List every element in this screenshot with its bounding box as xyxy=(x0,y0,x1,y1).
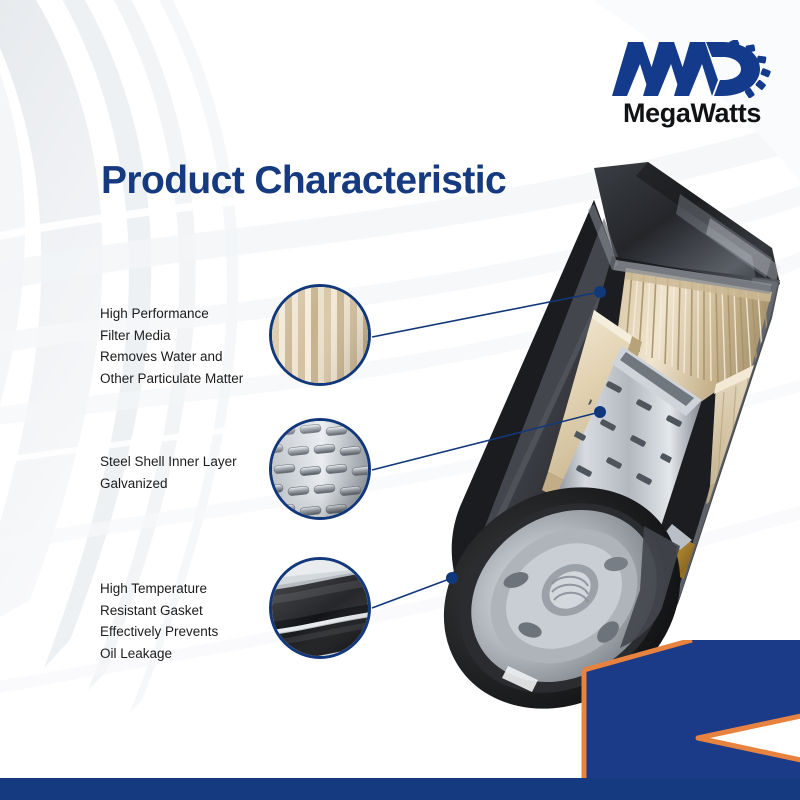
megawatts-mw-gear-logo-icon xyxy=(610,40,774,98)
callout-line: Steel Shell Inner Layer xyxy=(100,451,237,473)
callout-line: Other Particulate Matter xyxy=(100,368,243,390)
callout-line: Filter Media xyxy=(100,325,243,347)
detail-circle-filter-media[interactable] xyxy=(269,284,371,386)
callout-gasket: High Temperature Resistant Gasket Effect… xyxy=(100,578,218,664)
callout-line: High Performance xyxy=(100,303,243,325)
callout-steel-shell: Steel Shell Inner Layer Galvanized xyxy=(100,451,237,494)
callout-line: Removes Water and xyxy=(100,346,243,368)
rubber-gasket-swatch-icon xyxy=(272,560,371,659)
infographic-canvas: MegaWatts Product Characteristic xyxy=(0,0,800,800)
detail-circle-gasket[interactable] xyxy=(269,557,371,659)
footer-bar xyxy=(0,778,800,800)
callout-filter-media: High Performance Filter Media Removes Wa… xyxy=(100,303,243,389)
brand-wordmark: MegaWatts xyxy=(604,98,780,128)
galvanized-perforated-steel-swatch-icon xyxy=(272,421,371,520)
brand-logo: MegaWatts xyxy=(604,40,780,138)
callout-line: High Temperature xyxy=(100,578,218,600)
pleated-filter-media-swatch-icon xyxy=(272,287,371,386)
callout-line: Resistant Gasket xyxy=(100,600,218,622)
blue-orange-arrow-notch-block-icon xyxy=(580,640,800,800)
callout-line: Galvanized xyxy=(100,473,237,495)
callout-line: Oil Leakage xyxy=(100,643,218,665)
product-image-oil-filter-cutaway xyxy=(380,160,800,720)
callout-line: Effectively Prevents xyxy=(100,621,218,643)
detail-circle-steel-shell[interactable] xyxy=(269,418,371,520)
